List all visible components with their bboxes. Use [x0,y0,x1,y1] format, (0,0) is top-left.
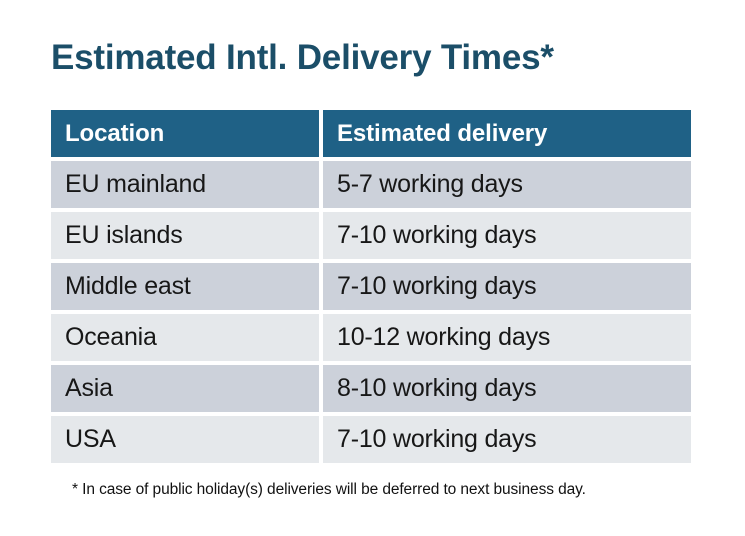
cell-location: EU mainland [51,161,319,208]
delivery-times-page: Estimated Intl. Delivery Times* Location… [0,0,745,536]
cell-estimated-delivery: 7-10 working days [323,416,691,463]
column-header-estimated-delivery: Estimated delivery [323,110,691,157]
table-row: EU mainland 5-7 working days [51,161,691,208]
table-row: Asia 8-10 working days [51,365,691,412]
cell-location: USA [51,416,319,463]
cell-location: Asia [51,365,319,412]
table-row: Oceania 10-12 working days [51,314,691,361]
table-row: EU islands 7-10 working days [51,212,691,259]
cell-estimated-delivery: 7-10 working days [323,263,691,310]
cell-location: Oceania [51,314,319,361]
cell-estimated-delivery: 5-7 working days [323,161,691,208]
footnote: * In case of public holiday(s) deliverie… [72,479,586,501]
cell-location: EU islands [51,212,319,259]
table-body: EU mainland 5-7 working days EU islands … [51,161,691,463]
page-title: Estimated Intl. Delivery Times* [51,36,554,80]
cell-location: Middle east [51,263,319,310]
table-row: USA 7-10 working days [51,416,691,463]
table-row: Middle east 7-10 working days [51,263,691,310]
cell-estimated-delivery: 7-10 working days [323,212,691,259]
table-header-row: Location Estimated delivery [51,110,691,157]
delivery-times-table: Location Estimated delivery EU mainland … [47,106,695,467]
cell-estimated-delivery: 10-12 working days [323,314,691,361]
column-header-location: Location [51,110,319,157]
cell-estimated-delivery: 8-10 working days [323,365,691,412]
table-header: Location Estimated delivery [51,110,691,157]
